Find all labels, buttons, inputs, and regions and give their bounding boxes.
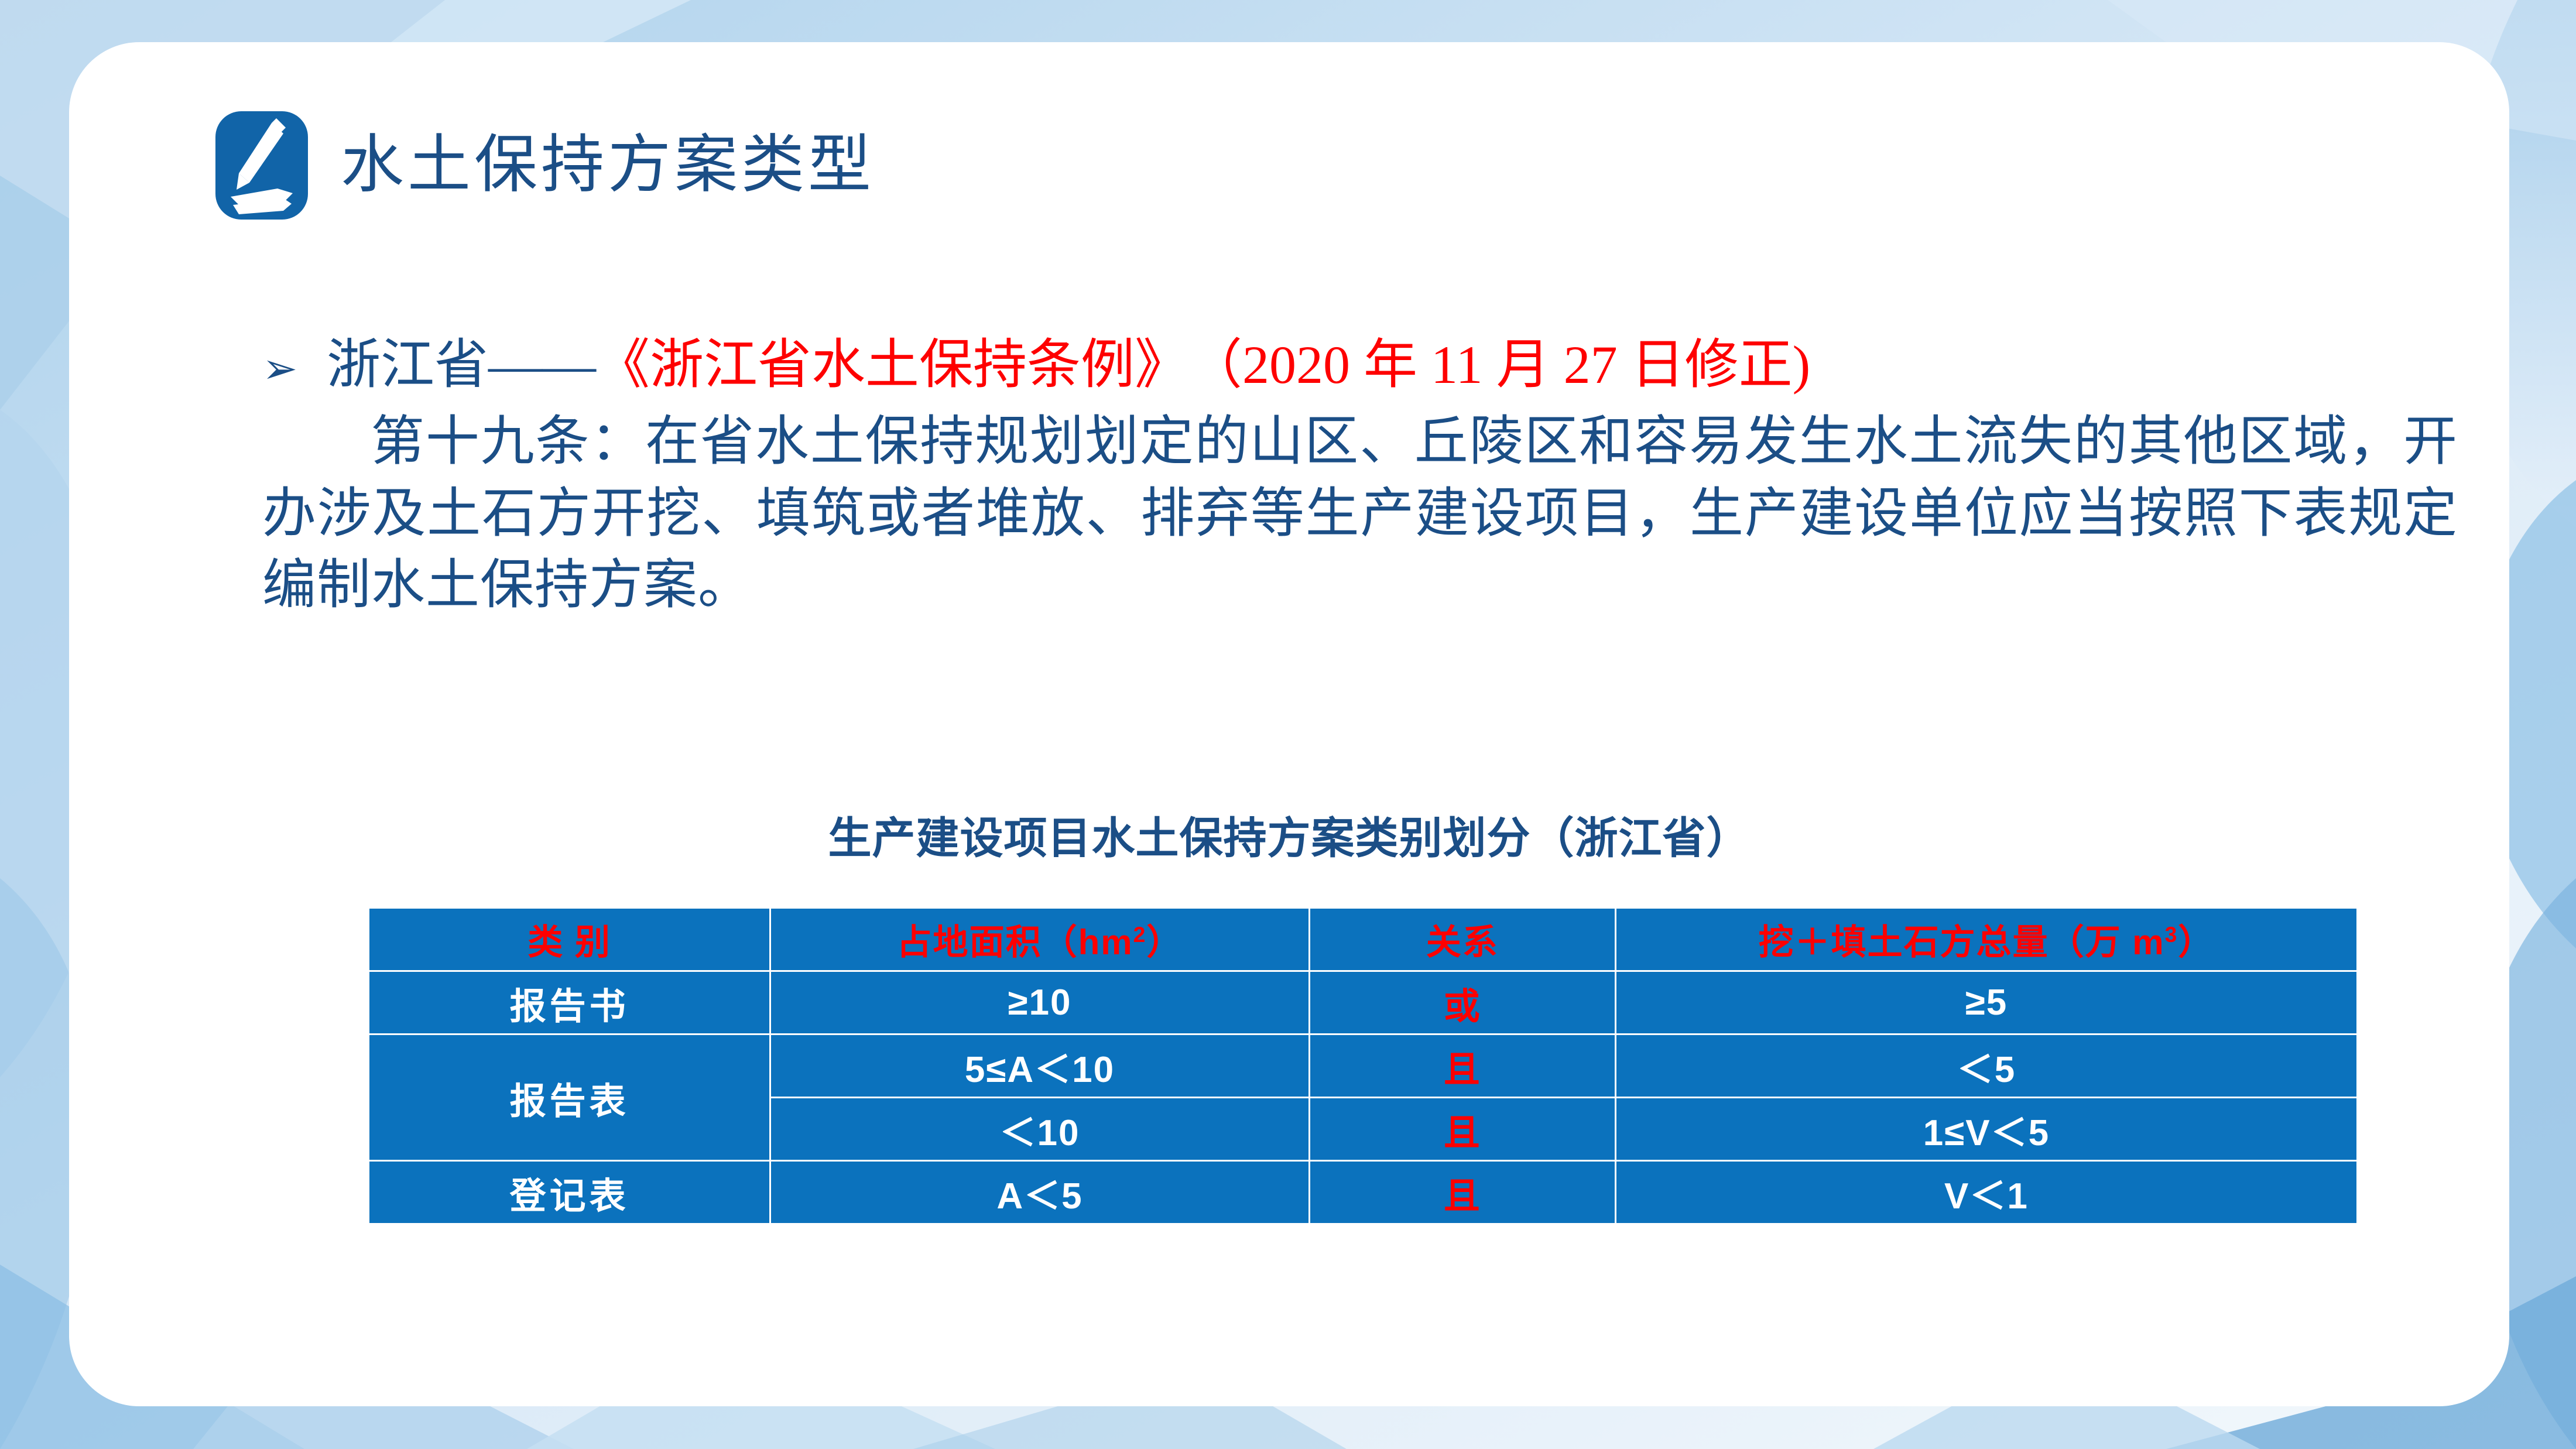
cell-area: 5≤A＜10 bbox=[770, 1034, 1310, 1098]
bullet-line: ➢ 浙江省—— 《浙江省水土保持条例》 （2020 年 11 月 27 日修正) bbox=[262, 332, 2458, 398]
table-row: 报告书 ≥10 或 ≥5 bbox=[369, 971, 2358, 1034]
pencil-note-glyph bbox=[215, 111, 308, 220]
classification-table-wrapper: 类 别 占地面积（hm2） 关系 挖＋填土石方总量（万 m3） 报告书 bbox=[368, 907, 2358, 1225]
cell-volume: 1≤V＜5 bbox=[1615, 1098, 2357, 1161]
cell-category: 报告表 bbox=[369, 1034, 770, 1161]
cell-volume: ＜5 bbox=[1615, 1034, 2357, 1098]
table-row: 报告表 5≤A＜10 且 ＜5 bbox=[369, 1034, 2358, 1098]
cell-area: ＜10 bbox=[770, 1098, 1310, 1161]
cell-volume: ≥5 bbox=[1615, 971, 2357, 1034]
body-text-block: ➢ 浙江省—— 《浙江省水土保持条例》 （2020 年 11 月 27 日修正)… bbox=[262, 332, 2458, 621]
column-header-volume: 挖＋填土石方总量（万 m3） bbox=[1615, 908, 2357, 971]
page-title: 水土保持方案类型 bbox=[341, 134, 875, 197]
column-header-category: 类 别 bbox=[369, 908, 770, 971]
slide-card: 水土保持方案类型 ➢ 浙江省—— 《浙江省水土保持条例》 （2020 年 11 … bbox=[69, 42, 2509, 1406]
bullet-arrow-icon: ➢ bbox=[262, 344, 327, 395]
slide-heading: 水土保持方案类型 bbox=[215, 111, 875, 220]
cell-relation: 且 bbox=[1309, 1161, 1615, 1224]
cell-relation: 或 bbox=[1309, 971, 1615, 1034]
column-header-relation: 关系 bbox=[1309, 908, 1615, 971]
cell-volume: V＜1 bbox=[1615, 1161, 2357, 1224]
cell-area: A＜5 bbox=[770, 1161, 1310, 1224]
cell-area: ≥10 bbox=[770, 971, 1310, 1034]
table-row: 登记表 A＜5 且 V＜1 bbox=[369, 1161, 2358, 1224]
bullet-province-prefix: 浙江省—— bbox=[327, 332, 596, 398]
article-paragraph: 第十九条：在省水土保持规划划定的山区、丘陵区和容易发生水土流失的其他区域，开办涉… bbox=[262, 406, 2458, 621]
cell-category: 登记表 bbox=[369, 1161, 770, 1224]
classification-table: 类 别 占地面积（hm2） 关系 挖＋填土石方总量（万 m3） 报告书 bbox=[368, 907, 2358, 1225]
cell-relation: 且 bbox=[1309, 1098, 1615, 1161]
cell-relation: 且 bbox=[1309, 1034, 1615, 1098]
bullet-amendment-date: （2020 年 11 月 27 日修正) bbox=[1188, 332, 1810, 398]
table-caption: 生产建设项目水土保持方案类别划分（浙江省） bbox=[69, 803, 2509, 866]
bullet-regulation-name: 《浙江省水土保持条例》 bbox=[596, 332, 1188, 398]
pencil-note-icon bbox=[215, 111, 308, 220]
column-header-area: 占地面积（hm2） bbox=[770, 908, 1310, 971]
table-header-row: 类 别 占地面积（hm2） 关系 挖＋填土石方总量（万 m3） bbox=[369, 908, 2358, 971]
cell-category: 报告书 bbox=[369, 971, 770, 1034]
